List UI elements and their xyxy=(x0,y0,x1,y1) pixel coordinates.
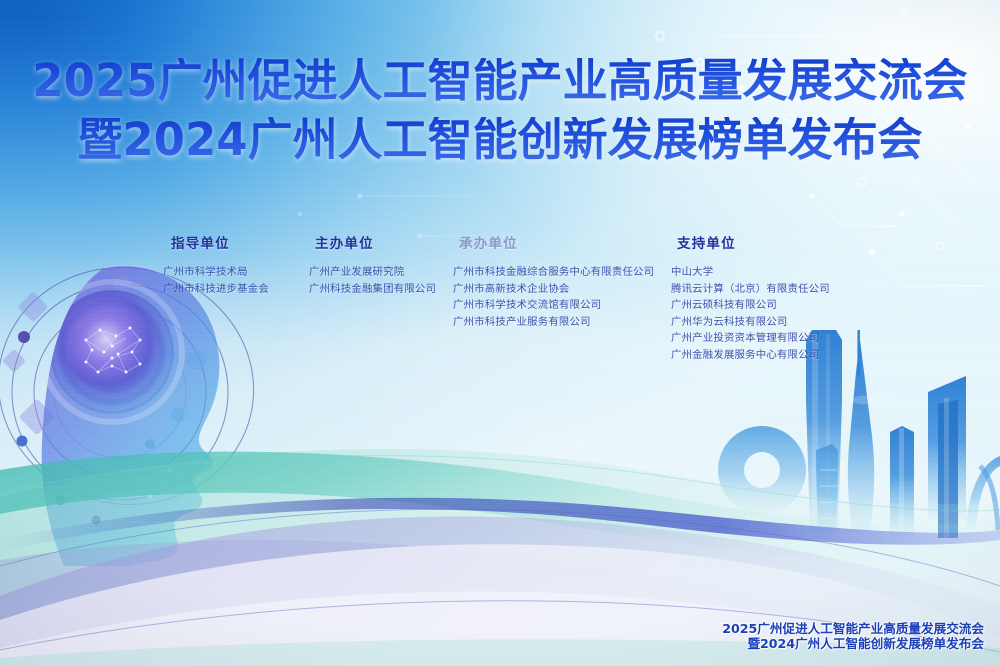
org-unit-item: 广州华为云科技有限公司 xyxy=(671,315,830,332)
org-column-heading: 主办单位 xyxy=(309,232,436,252)
org-unit-list: 广州产业发展研究院 广州科技金融集团有限公司 xyxy=(309,265,436,298)
org-unit-item: 广州市科学技术交流馆有限公司 xyxy=(453,298,654,315)
org-unit-item: 广州市高新技术企业协会 xyxy=(453,282,654,299)
footer-title-lockup: 2025广州促进人工智能产业高质量发展交流会 暨2024广州人工智能创新发展榜单… xyxy=(722,621,984,652)
org-unit-item: 广州市科学技术局 xyxy=(163,265,269,282)
org-column-support: 支持单位 中山大学 腾讯云计算（北京）有限责任公司 广州云硕科技有限公司 广州华… xyxy=(671,232,830,365)
org-unit-list: 中山大学 腾讯云计算（北京）有限责任公司 广州云硕科技有限公司 广州华为云科技有… xyxy=(671,265,830,365)
org-unit-item: 广州科技金融集团有限公司 xyxy=(309,282,436,299)
org-unit-item: 中山大学 xyxy=(671,265,830,282)
org-column-heading: 指导单位 xyxy=(163,232,269,252)
org-unit-item: 广州市科技产业服务有限公司 xyxy=(453,315,654,332)
org-unit-item: 广州云硕科技有限公司 xyxy=(671,298,830,315)
org-column-heading: 支持单位 xyxy=(671,232,830,252)
title-line-1: 2025广州促进人工智能产业高质量发展交流会 xyxy=(0,58,1000,103)
org-unit-list: 广州市科学技术局 广州市科技进步基金会 xyxy=(163,265,269,298)
org-column-organizer: 承办单位 广州市科技金融综合服务中心有限责任公司 广州市高新技术企业协会 广州市… xyxy=(453,232,654,331)
org-column-heading: 承办单位 xyxy=(453,232,654,252)
org-unit-item: 广州产业发展研究院 xyxy=(309,265,436,282)
org-column-guiding: 指导单位 广州市科学技术局 广州市科技进步基金会 xyxy=(163,232,269,298)
footer-title-line-2: 暨2024广州人工智能创新发展榜单发布会 xyxy=(722,636,984,652)
org-column-host: 主办单位 广州产业发展研究院 广州科技金融集团有限公司 xyxy=(309,232,436,298)
title-line-2: 暨2024广州人工智能创新发展榜单发布会 xyxy=(0,117,1000,162)
org-unit-item: 腾讯云计算（北京）有限责任公司 xyxy=(671,282,830,299)
org-unit-item: 广州市科技金融综合服务中心有限责任公司 xyxy=(453,265,654,282)
organization-columns: 指导单位 广州市科学技术局 广州市科技进步基金会 主办单位 广州产业发展研究院 … xyxy=(163,232,863,392)
org-unit-item: 广州市科技进步基金会 xyxy=(163,282,269,299)
event-title: 2025广州促进人工智能产业高质量发展交流会 暨2024广州人工智能创新发展榜单… xyxy=(0,58,1000,162)
org-unit-list: 广州市科技金融综合服务中心有限责任公司 广州市高新技术企业协会 广州市科学技术交… xyxy=(453,265,654,331)
footer-title-line-1: 2025广州促进人工智能产业高质量发展交流会 xyxy=(722,621,984,637)
org-unit-item: 广州金融发展服务中心有限公司 xyxy=(671,348,830,365)
org-unit-item: 广州产业投资资本管理有限公司 xyxy=(671,331,830,348)
event-backdrop: 2025广州促进人工智能产业高质量发展交流会 暨2024广州人工智能创新发展榜单… xyxy=(0,0,1000,666)
